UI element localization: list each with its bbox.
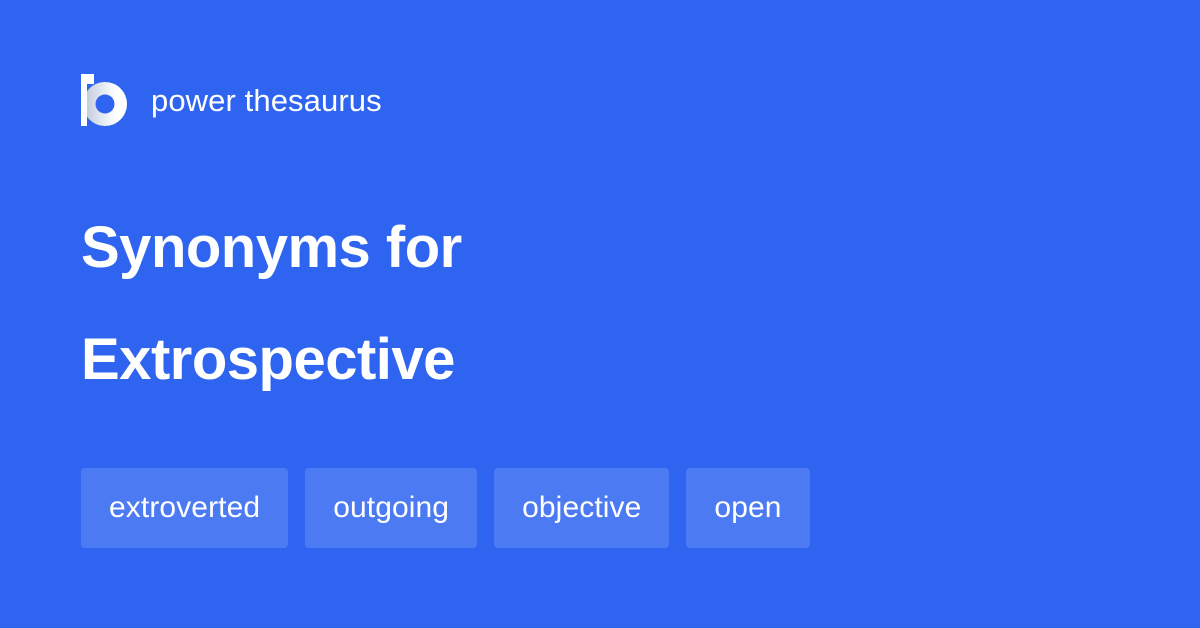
headline-line-2: Extrospective [81,304,1121,416]
synonym-tag[interactable]: outgoing [305,468,477,548]
power-thesaurus-b-logo-icon [81,74,127,126]
synonym-tag[interactable]: extroverted [81,468,288,548]
brand-header[interactable]: power thesaurus [81,72,382,128]
page-title: Synonyms for Extrospective [81,192,1121,416]
synonym-tag[interactable]: objective [494,468,669,548]
synonym-tag[interactable]: open [686,468,809,548]
social-share-card: power thesaurus Synonyms for Extrospecti… [0,0,1200,628]
brand-name: power thesaurus [151,85,382,116]
headline-line-1: Synonyms for [81,192,1121,304]
synonym-tag-list: extroverted outgoing objective open [81,468,810,548]
